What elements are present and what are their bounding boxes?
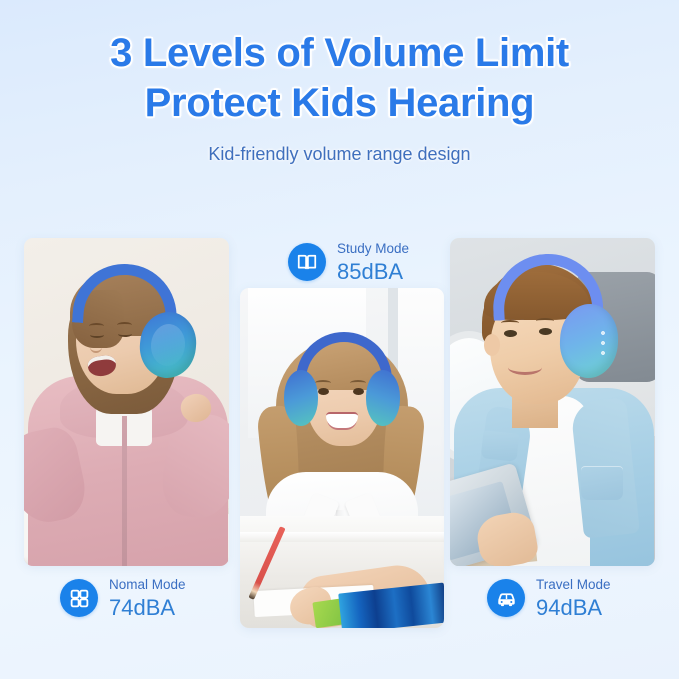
nose	[90, 341, 102, 353]
eye-right	[353, 388, 364, 395]
grid-four-squares-icon	[60, 579, 98, 617]
smile	[508, 360, 542, 375]
headphone-controls	[600, 330, 612, 358]
eyebrow-left	[501, 320, 519, 326]
smile	[326, 412, 358, 428]
eye-left	[318, 388, 329, 395]
badge-normal-mode: Nomal Mode 74dBA	[60, 578, 186, 619]
open-book-icon	[288, 243, 326, 281]
photo-study-mode	[240, 288, 444, 628]
badge-text: Study Mode 85dBA	[337, 242, 409, 283]
badge-study-mode: Study Mode 85dBA	[288, 242, 409, 283]
title-line-1: 3 Levels of Volume Limit	[0, 28, 679, 78]
scene-girl-pink-hoodie	[24, 238, 229, 566]
promo-banner: 3 Levels of Volume Limit Protect Kids He…	[0, 0, 679, 679]
eyebrow-right	[536, 318, 554, 324]
headphone-earcup-left	[284, 370, 318, 426]
zipper	[122, 416, 127, 566]
page-title: 3 Levels of Volume Limit Protect Kids He…	[0, 28, 679, 128]
shirt-pocket-right	[581, 466, 623, 500]
badge-label: Travel Mode	[536, 578, 611, 592]
photo-travel-mode	[450, 238, 655, 566]
shirt-pocket-left	[481, 430, 520, 462]
badge-value: 85dBA	[337, 261, 409, 283]
eye-right	[539, 328, 552, 335]
badge-travel-mode: Travel Mode 94dBA	[487, 578, 611, 619]
scene-boy-on-airplane	[450, 238, 655, 566]
eye-left	[90, 332, 104, 338]
badge-label: Study Mode	[337, 242, 409, 256]
desk-edge	[240, 532, 444, 542]
photo-normal-mode	[24, 238, 229, 566]
page-subtitle: Kid-friendly volume range design	[0, 144, 679, 165]
eye-right	[118, 331, 132, 337]
ear	[484, 334, 500, 356]
car-icon	[487, 579, 525, 617]
badge-value: 94dBA	[536, 597, 611, 619]
badge-value: 74dBA	[109, 597, 186, 619]
headphone-earcup-right	[366, 370, 400, 426]
eye-left	[504, 330, 517, 337]
badge-label: Nomal Mode	[109, 578, 186, 592]
scene-girl-at-desk	[240, 288, 444, 628]
badge-text: Travel Mode 94dBA	[536, 578, 611, 619]
badge-text: Nomal Mode 74dBA	[109, 578, 186, 619]
title-line-2: Protect Kids Hearing	[0, 78, 679, 128]
